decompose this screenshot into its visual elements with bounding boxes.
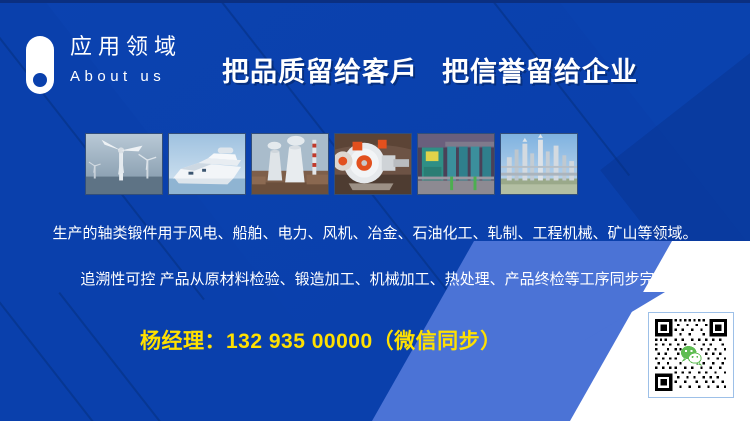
- gallery-thumb-petrochemical-refinery: [500, 133, 578, 195]
- qr-code-graphic: [652, 316, 730, 394]
- banner-top-border: [0, 0, 750, 3]
- gallery-thumb-metallurgy-hall: [417, 133, 495, 195]
- section-title-cn: 应用领域: [70, 36, 182, 58]
- gallery-thumb-industrial-blower: [334, 133, 412, 195]
- headline: 把品质留给客戶把信誉留给企业: [222, 56, 638, 90]
- body-line-2: 追溯性可控 产品从原材料检验、锻造加工、机械加工、热处理、产品终检等工序同步完成: [0, 272, 750, 287]
- exclamation-pill-icon: [26, 36, 54, 94]
- wechat-qr-code[interactable]: [648, 312, 734, 398]
- body-line-1: 生产的轴类锻件用于风电、船舶、电力、风机、冶金、石油化工、轧制、工程机械、矿山等…: [0, 226, 750, 241]
- gallery-thumb-cruise-ship: [168, 133, 246, 195]
- headline-part1: 把品质留给客戶: [222, 57, 418, 87]
- application-gallery: [85, 133, 578, 195]
- section-title-en: About us: [70, 69, 165, 84]
- gallery-thumb-wind-turbine: [85, 133, 163, 195]
- headline-part2: 把信誉留给企业: [442, 57, 638, 87]
- gallery-thumb-power-plant: [251, 133, 329, 195]
- about-us-banner: 应用领域 About us 把品质留给客戶把信誉留给企业: [0, 0, 750, 421]
- contact-line: 杨经理：132 935 00000（微信同步）: [140, 331, 502, 352]
